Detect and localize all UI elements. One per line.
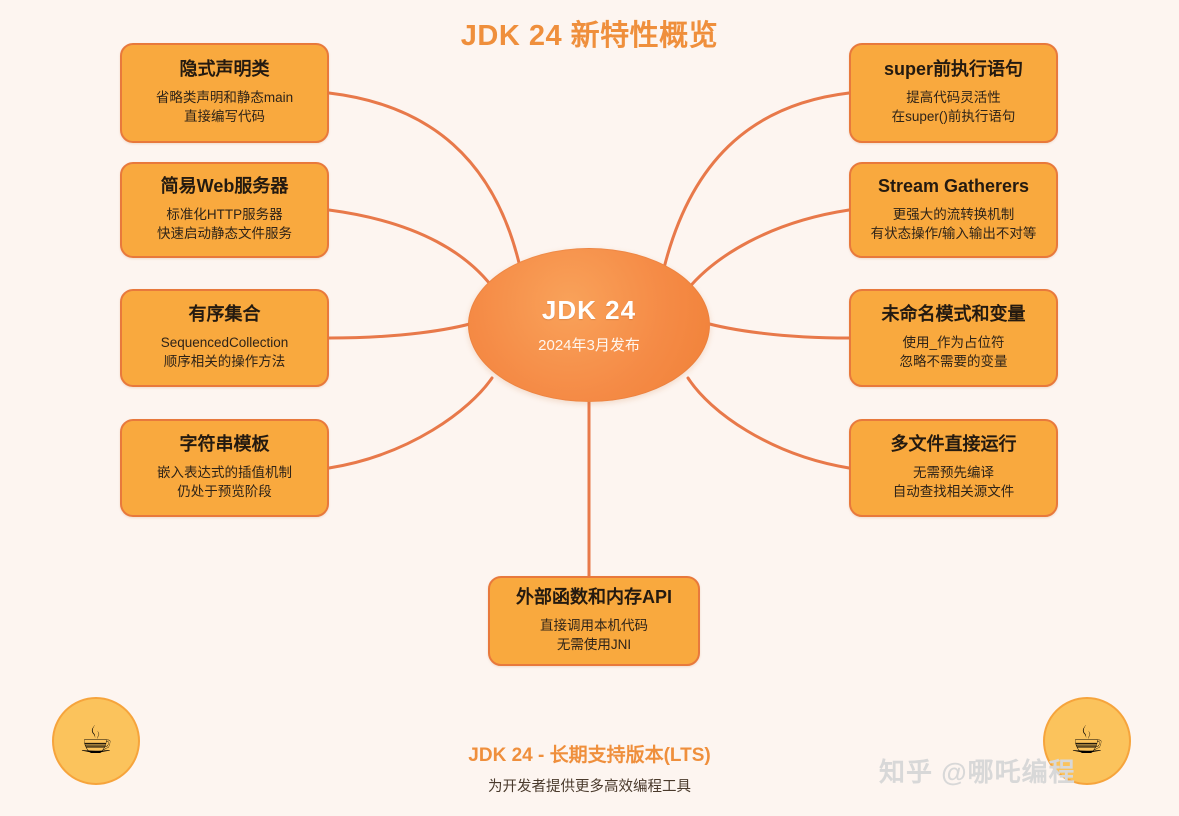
node-card-left-1[interactable]: 隐式声明类 省略类声明和静态main 直接编写代码 bbox=[120, 43, 329, 143]
coffee-cup-icon-left: ☕ bbox=[52, 697, 140, 785]
node-title: 有序集合 bbox=[189, 304, 261, 326]
node-title: Stream Gatherers bbox=[878, 176, 1029, 198]
coffee-cup-glyph: ☕ bbox=[79, 722, 113, 760]
node-title: 字符串模板 bbox=[180, 434, 270, 456]
node-line-2: 直接编写代码 bbox=[184, 107, 265, 127]
node-line-2: 快速启动静态文件服务 bbox=[157, 224, 292, 244]
node-line-1: 标准化HTTP服务器 bbox=[166, 205, 282, 225]
node-card-left-2[interactable]: 简易Web服务器 标准化HTTP服务器 快速启动静态文件服务 bbox=[120, 162, 329, 258]
node-line-2: 无需使用JNI bbox=[557, 635, 631, 655]
node-title: 外部函数和内存API bbox=[516, 587, 672, 609]
node-line-1: 无需预先编译 bbox=[913, 463, 994, 483]
node-line-1: 提高代码灵活性 bbox=[906, 88, 1001, 108]
edge-center-to-right-2 bbox=[687, 210, 849, 290]
node-line-1: 省略类声明和静态main bbox=[156, 88, 293, 108]
node-card-right-2[interactable]: Stream Gatherers 更强大的流转换机制 有状态操作/输入输出不对等 bbox=[849, 162, 1058, 258]
center-node[interactable]: JDK 24 2024年3月发布 bbox=[468, 248, 710, 402]
edge-center-to-left-4 bbox=[329, 378, 492, 468]
node-card-right-3[interactable]: 未命名模式和变量 使用_作为占位符 忽略不需要的变量 bbox=[849, 289, 1058, 387]
edge-center-to-left-1 bbox=[329, 93, 520, 267]
node-card-right-1[interactable]: super前执行语句 提高代码灵活性 在super()前执行语句 bbox=[849, 43, 1058, 143]
node-title: 简易Web服务器 bbox=[161, 176, 289, 198]
center-node-subtitle: 2024年3月发布 bbox=[538, 334, 640, 355]
node-title: 隐式声明类 bbox=[180, 59, 270, 81]
node-line-2: 在super()前执行语句 bbox=[892, 107, 1016, 127]
mindmap-canvas: JDK 24 新特性概览 隐式声明类 省略类声明和静态main 直接编写代码 简… bbox=[0, 0, 1179, 816]
node-card-left-3[interactable]: 有序集合 SequencedCollection 顺序相关的操作方法 bbox=[120, 289, 329, 387]
node-card-right-4[interactable]: 多文件直接运行 无需预先编译 自动查找相关源文件 bbox=[849, 419, 1058, 517]
node-line-1: 直接调用本机代码 bbox=[540, 616, 648, 636]
node-title: 多文件直接运行 bbox=[891, 434, 1017, 456]
node-card-left-4[interactable]: 字符串模板 嵌入表达式的插值机制 仍处于预览阶段 bbox=[120, 419, 329, 517]
edge-center-to-left-3 bbox=[329, 322, 477, 338]
node-line-2: 仍处于预览阶段 bbox=[177, 482, 272, 502]
node-line-1: SequencedCollection bbox=[161, 333, 289, 353]
node-line-1: 更强大的流转换机制 bbox=[893, 205, 1015, 225]
node-line-2: 忽略不需要的变量 bbox=[900, 352, 1008, 372]
edge-center-to-right-4 bbox=[688, 378, 849, 468]
node-line-2: 有状态操作/输入输出不对等 bbox=[871, 224, 1037, 244]
node-line-1: 嵌入表达式的插值机制 bbox=[157, 463, 292, 483]
node-card-bottom-1[interactable]: 外部函数和内存API 直接调用本机代码 无需使用JNI bbox=[488, 576, 700, 666]
node-line-2: 自动查找相关源文件 bbox=[893, 482, 1015, 502]
watermark: 知乎 @哪吒编程 bbox=[879, 752, 1076, 789]
node-title: 未命名模式和变量 bbox=[882, 304, 1026, 326]
node-line-1: 使用_作为占位符 bbox=[902, 333, 1004, 353]
center-node-title: JDK 24 bbox=[542, 295, 636, 326]
node-title: super前执行语句 bbox=[884, 59, 1023, 81]
node-line-2: 顺序相关的操作方法 bbox=[164, 352, 286, 372]
edge-center-to-right-3 bbox=[702, 322, 849, 338]
edge-center-to-right-1 bbox=[664, 93, 849, 268]
edge-center-to-left-2 bbox=[329, 210, 496, 292]
